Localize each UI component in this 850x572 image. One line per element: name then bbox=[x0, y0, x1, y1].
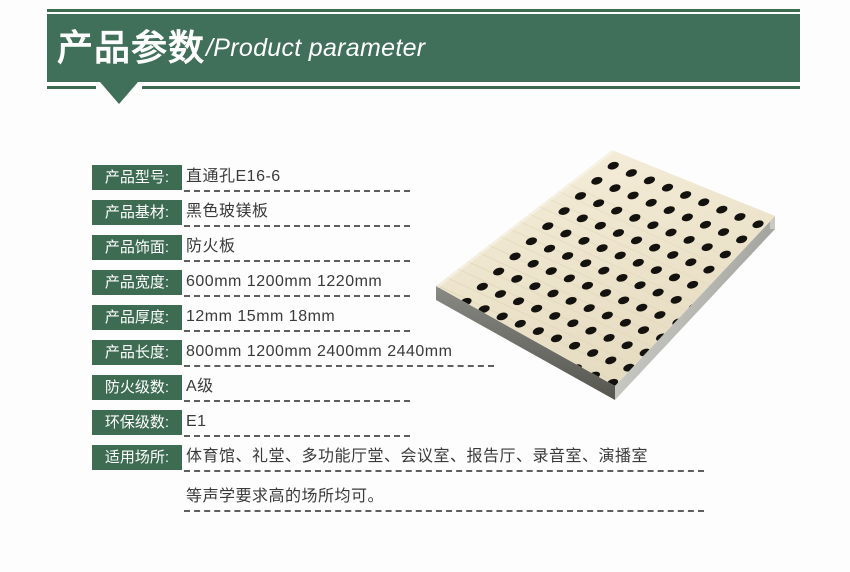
spec-label-fire-rating: 防火级数: bbox=[92, 375, 182, 400]
banner-rule-bottom bbox=[47, 86, 800, 89]
spec-row-model: 产品型号: 直通孔E16-6 bbox=[92, 163, 712, 198]
page-title-en: /Product parameter bbox=[206, 36, 425, 61]
spec-row-finish: 产品饰面: 防火板 bbox=[92, 233, 712, 268]
spec-row-fire-rating: 防火级数: A级 bbox=[92, 373, 712, 408]
spec-divider bbox=[184, 510, 704, 512]
spec-divider bbox=[184, 225, 410, 227]
spec-divider bbox=[184, 400, 410, 402]
product-parameter-page: 产品参数 /Product parameter bbox=[0, 0, 850, 572]
spec-row-length: 产品长度: 800mm 1200mm 2400mm 2440mm bbox=[92, 338, 712, 373]
spec-row-applications: 适用场所: 体育馆、礼堂、多功能厅堂、会议室、报告厅、录音室、演播室 等声学要求… bbox=[92, 443, 712, 519]
spec-divider bbox=[184, 365, 494, 367]
page-title: 产品参数 /Product parameter bbox=[57, 14, 797, 82]
spec-table: 产品型号: 直通孔E16-6 产品基材: 黑色玻镁板 产品饰面: 防火板 产品宽… bbox=[92, 163, 712, 519]
spec-value-width: 600mm 1200mm 1220mm bbox=[186, 268, 382, 296]
spec-row-eco-rating: 环保级数: E1 bbox=[92, 408, 712, 443]
page-title-cn: 产品参数 bbox=[57, 30, 205, 66]
spec-value-model: 直通孔E16-6 bbox=[186, 163, 281, 191]
spec-label-substrate: 产品基材: bbox=[92, 200, 182, 225]
spec-value-applications-line1: 体育馆、礼堂、多功能厅堂、会议室、报告厅、录音室、演播室 bbox=[186, 443, 648, 471]
spec-row-thickness: 产品厚度: 12mm 15mm 18mm bbox=[92, 303, 712, 338]
spec-row-width: 产品宽度: 600mm 1200mm 1220mm bbox=[92, 268, 712, 303]
spec-label-length: 产品长度: bbox=[92, 340, 182, 365]
spec-value-applications-line2: 等声学要求高的场所均可。 bbox=[186, 483, 384, 511]
spec-row-substrate: 产品基材: 黑色玻镁板 bbox=[92, 198, 712, 233]
banner-notch-arrow-icon bbox=[100, 82, 138, 104]
spec-divider bbox=[184, 330, 410, 332]
spec-divider bbox=[184, 260, 410, 262]
spec-value-length: 800mm 1200mm 2400mm 2440mm bbox=[186, 338, 452, 366]
spec-value-thickness: 12mm 15mm 18mm bbox=[186, 303, 335, 331]
spec-label-eco-rating: 环保级数: bbox=[92, 410, 182, 435]
banner-rule-top bbox=[47, 9, 800, 12]
page-header-banner: 产品参数 /Product parameter bbox=[0, 0, 850, 112]
spec-label-finish: 产品饰面: bbox=[92, 235, 182, 260]
spec-label-model: 产品型号: bbox=[92, 165, 182, 190]
spec-value-substrate: 黑色玻镁板 bbox=[186, 198, 269, 226]
spec-value-eco-rating: E1 bbox=[186, 408, 207, 436]
spec-label-applications: 适用场所: bbox=[92, 445, 182, 470]
spec-label-thickness: 产品厚度: bbox=[92, 305, 182, 330]
spec-label-width: 产品宽度: bbox=[92, 270, 182, 295]
spec-value-finish: 防火板 bbox=[186, 233, 236, 261]
spec-divider bbox=[184, 295, 410, 297]
spec-divider bbox=[184, 190, 410, 192]
spec-divider bbox=[184, 435, 410, 437]
spec-value-fire-rating: A级 bbox=[186, 373, 214, 401]
spec-divider bbox=[184, 470, 704, 472]
